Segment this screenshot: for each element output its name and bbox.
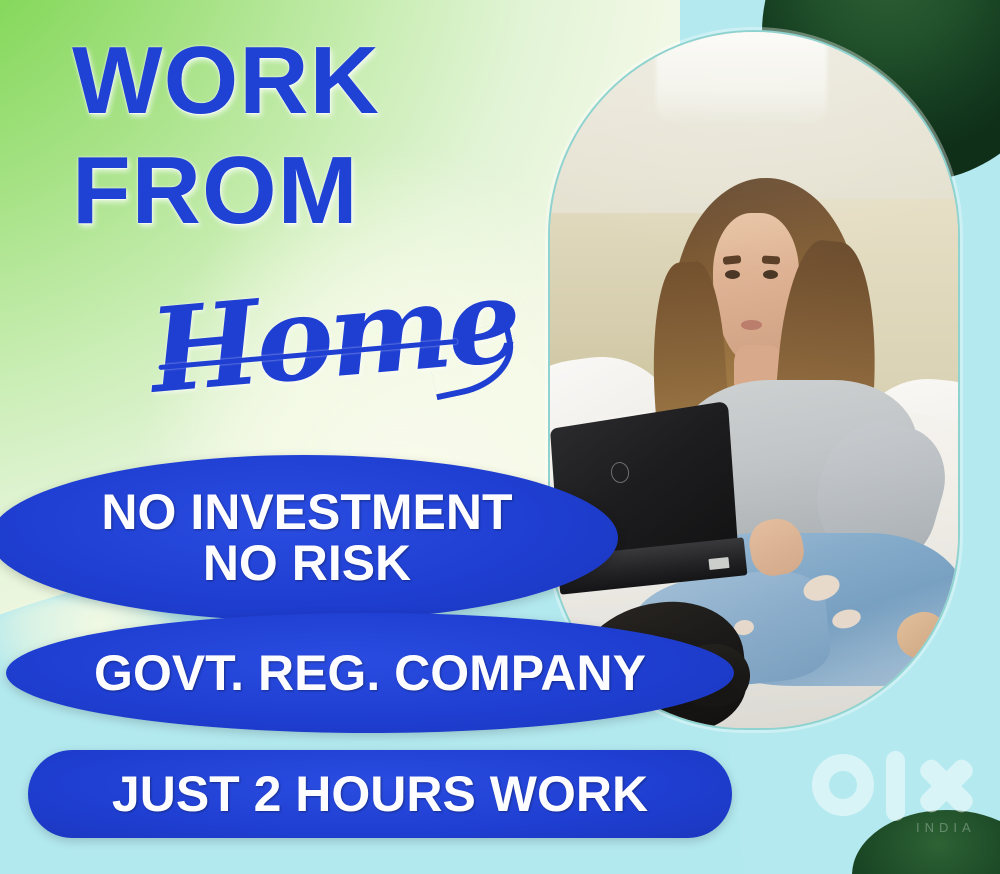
headline-line-work: WORK [72,34,502,128]
pill-1-line-2: NO RISK [101,538,512,589]
benefit-pill-no-investment[interactable]: NO INVESTMENT NO RISK [0,455,618,621]
olx-letter-l-icon [886,751,905,821]
olx-watermark: INDIA [812,748,984,840]
pill-3-label: JUST 2 HOURS WORK [112,769,648,820]
photo-eye-right [763,270,778,279]
benefit-pill-govt-registered[interactable]: GOVT. REG. COMPANY [6,613,734,733]
olx-letter-o-icon [812,754,874,816]
pill-2-label: GOVT. REG. COMPANY [94,648,646,699]
pill-1-line-1: NO INVESTMENT [101,487,512,538]
olx-region-label: INDIA [916,820,976,835]
photo-woman-with-laptop [550,32,958,728]
photo-lips [741,320,762,330]
headline-block: WORK FROM [72,34,502,238]
photo-window [656,32,827,122]
photo-frame [548,30,960,730]
poster-canvas: WORK FROM Home NO INVESTMENT NO RISK GOV… [0,0,1000,874]
headline-line-from: FROM [72,144,502,238]
photo-eyebrow-right [762,255,780,264]
olx-letter-x-icon [916,756,978,816]
benefit-pill-two-hours-work[interactable]: JUST 2 HOURS WORK [28,750,732,838]
